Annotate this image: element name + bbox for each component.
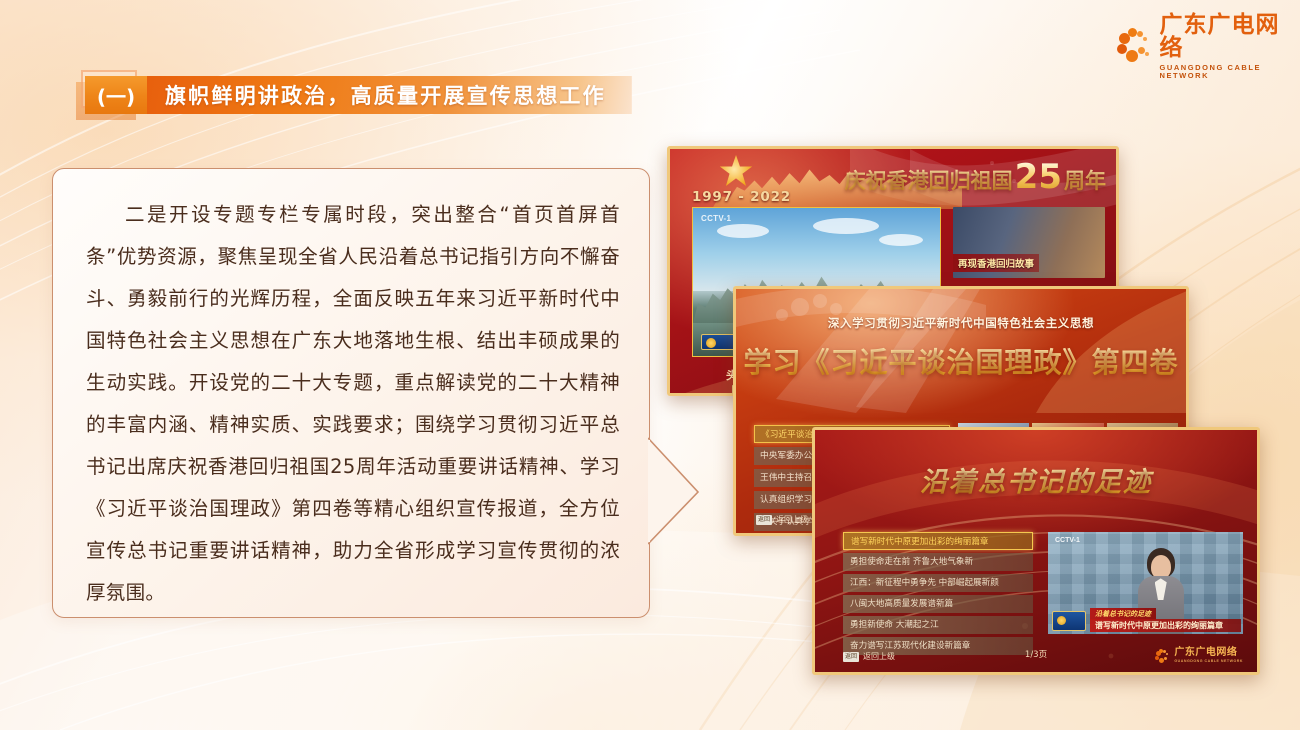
list-item[interactable]: 江西：新征程中勇争先 中部崛起展新颜 — [843, 574, 1033, 592]
remote-key-icon: 返回 — [756, 515, 772, 525]
hk25-year-range: 1997 - 2022 — [692, 189, 791, 205]
cctv-channel-bug-icon: CCTV-1 — [701, 214, 731, 223]
cloud-shape — [717, 224, 769, 238]
hk25-title-part1: 庆祝香港回归祖国 — [845, 165, 1013, 195]
video-strap-headline: 谱写新时代中原更加出彩的绚丽篇章 — [1090, 619, 1241, 632]
cloud-shape — [879, 234, 923, 246]
back-button-label: 返回上级 — [776, 514, 808, 525]
hk25-title-part2: 周年 — [1064, 165, 1106, 195]
logo-title-cn: 广东广电网络 — [1159, 14, 1300, 60]
gdcn-logo-icon — [1155, 649, 1170, 664]
gdcn-logo-icon — [1117, 28, 1151, 66]
content-callout-card: 二是开设专题专栏专属时段，突出整合“首页首屏首条”优势资源，聚焦呈现全省人民沿着… — [52, 168, 650, 618]
list-item[interactable]: 勇担新使命 大潮起之江 — [843, 616, 1033, 634]
hk25-title: 庆祝香港回归祖国 25 周年 — [845, 162, 1106, 195]
heading-bar: 旗帜鲜明讲政治，高质量开展宣传思想工作 — [147, 76, 632, 114]
xi-book-back-button[interactable]: 返回 返回上级 — [756, 514, 808, 525]
list-item[interactable]: 谱写新时代中原更加出彩的绚丽篇章 — [843, 532, 1033, 550]
xi-book-subtitle: 深入学习贯彻习近平新时代中国特色社会主义思想 — [736, 315, 1186, 331]
logo-title-en: GUANGDONG CABLE NETWORK — [1159, 64, 1300, 79]
hk25-title-number: 25 — [1013, 162, 1064, 193]
footsteps-logo-cn: 广东广电网络 — [1174, 648, 1243, 658]
cctv-channel-bug-icon: CCTV-1 — [1055, 537, 1080, 544]
screenshot-general-secretary-footsteps[interactable]: 沿着总书记的足迹 谱写新时代中原更加出彩的绚丽篇章 勇担使命走在前 齐鲁大地气象… — [812, 427, 1260, 675]
footsteps-menu-list: 谱写新时代中原更加出彩的绚丽篇章 勇担使命走在前 齐鲁大地气象新 江西：新征程中… — [843, 532, 1033, 658]
cloud-shape — [813, 218, 879, 234]
hk25-tile[interactable]: 再现香港回归故事 — [953, 207, 1105, 278]
footsteps-video-preview[interactable]: CCTV-1 沿着总书记的足迹 谱写新时代中原更加出彩的绚丽篇章 — [1048, 532, 1243, 634]
heading-number: (一) — [85, 76, 147, 114]
footsteps-gdcn-logo: 广东广电网络 GUANGDONG CABLE NETWORK — [1155, 648, 1243, 664]
section-heading-banner: (一) 旗帜鲜明讲政治，高质量开展宣传思想工作 — [85, 76, 632, 114]
list-item[interactable]: 勇担使命走在前 齐鲁大地气象新 — [843, 553, 1033, 571]
bauhinia-flower-icon — [718, 155, 754, 191]
footsteps-logo-en: GUANGDONG CABLE NETWORK — [1174, 660, 1243, 664]
footsteps-title: 沿着总书记的足迹 — [815, 460, 1257, 499]
xi-book-title: 学习《习近平谈治国理政》第四卷 — [736, 341, 1186, 381]
brand-logo: 广东广电网络 GUANGDONG CABLE NETWORK — [1117, 14, 1300, 79]
gdcn-watermark-icon — [1052, 611, 1086, 631]
video-lower-third: 沿着总书记的足迹 谱写新时代中原更加出彩的绚丽篇章 — [1048, 606, 1243, 634]
callout-tail-icon — [648, 436, 702, 546]
heading-title: 旗帜鲜明讲政治，高质量开展宣传思想工作 — [165, 80, 606, 110]
list-item[interactable]: 八闽大地高质量发展谱新篇 — [843, 595, 1033, 613]
hk25-tile-label: 再现香港回归故事 — [953, 254, 1039, 272]
callout-paragraph: 二是开设专题专栏专属时段，突出整合“首页首屏首条”优势资源，聚焦呈现全省人民沿着… — [86, 194, 620, 614]
